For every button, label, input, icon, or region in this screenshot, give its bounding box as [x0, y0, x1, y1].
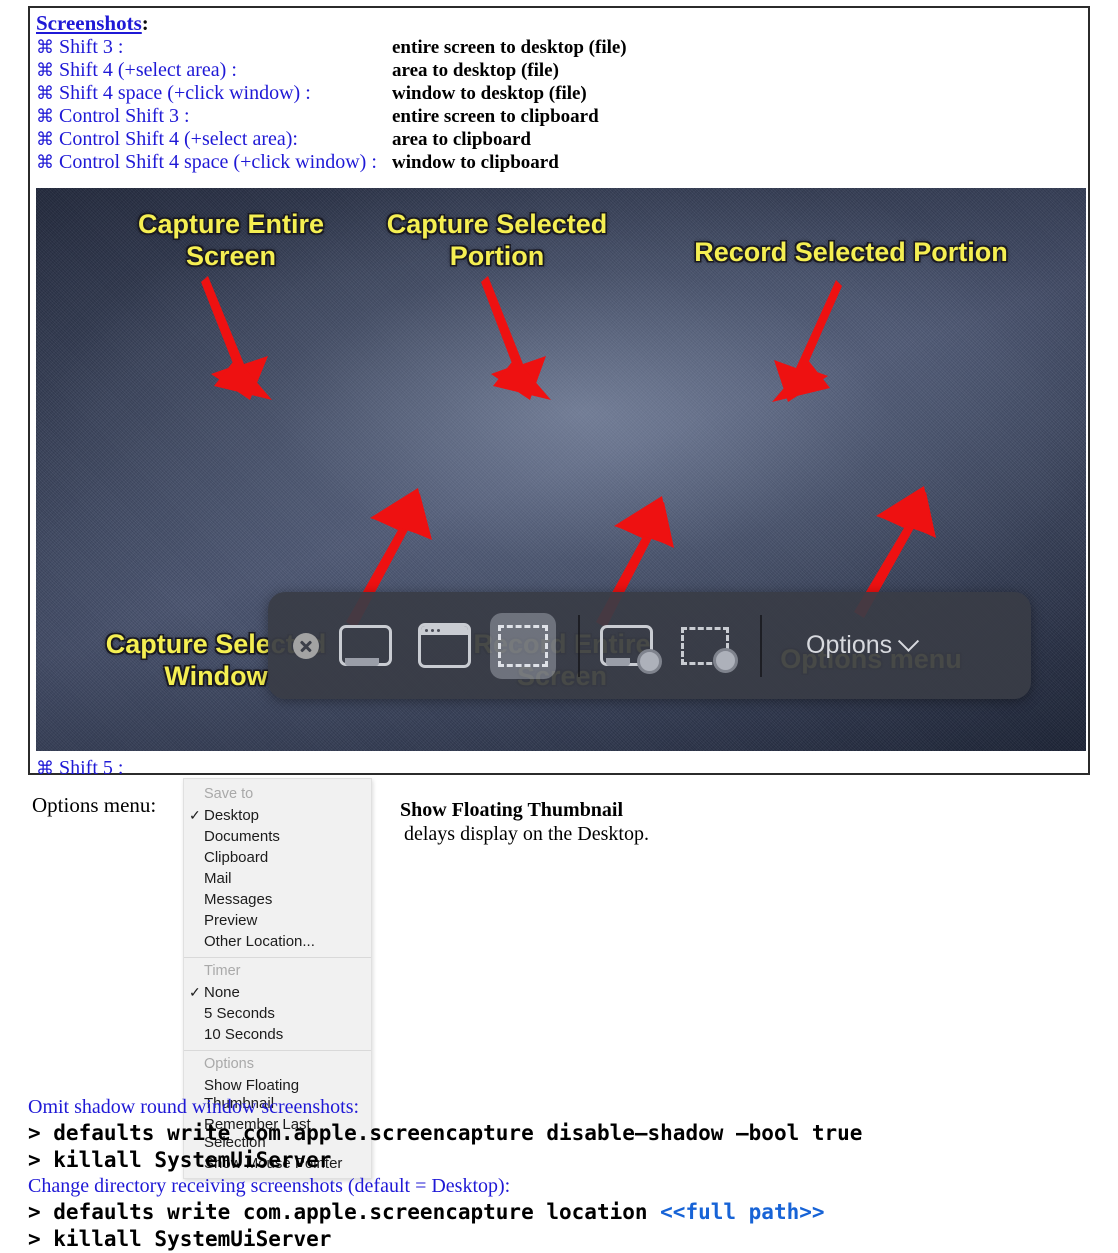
shortcut-row: ⌘ Control Shift 4 space (+click window) … — [36, 151, 1082, 174]
record-screen-icon — [600, 625, 653, 666]
shortcut-description: entire screen to clipboard — [392, 105, 599, 128]
macos-capture-toolbar[interactable]: Options — [268, 592, 1031, 699]
floating-thumbnail-note: Show Floating Thumbnail delays display o… — [400, 798, 649, 846]
menu-item-label: Mail — [204, 870, 232, 887]
record-entire-screen-button[interactable] — [593, 613, 659, 679]
menu-item-label: Preview — [204, 912, 257, 929]
screen-icon — [339, 625, 392, 666]
menu-item-label: None — [204, 984, 240, 1001]
shortcut-keys: ⌘ Control Shift 3 : — [36, 105, 190, 128]
capture-selected-portion-button[interactable] — [490, 613, 556, 679]
page-title-word: Screenshots — [36, 11, 142, 35]
menu-item[interactable]: Other Location... — [184, 931, 371, 952]
shortcut-row: ⌘ Control Shift 3 :entire screen to clip… — [36, 105, 1082, 128]
menu-section-header: Save to — [184, 783, 371, 805]
record-selection-icon — [681, 627, 729, 665]
screenshot-toolbar-photo: Capture Entire Screen Capture Selected P… — [36, 188, 1086, 751]
menu-item[interactable]: 5 Seconds — [184, 1003, 371, 1024]
window-icon — [418, 623, 471, 668]
floating-thumbnail-note-body: delays display on the Desktop. — [400, 822, 649, 846]
menu-item-label: 10 Seconds — [204, 1026, 283, 1043]
menu-item-label: 5 Seconds — [204, 1005, 275, 1022]
menu-item-label: Documents — [204, 828, 280, 845]
capture-selected-window-button[interactable] — [411, 613, 477, 679]
command-disable-shadow: > defaults write com.apple.screencapture… — [28, 1120, 1098, 1147]
shortcut-description: area to desktop (file) — [392, 59, 559, 82]
shortcut-row: ⌘ Shift 3 :entire screen to desktop (fil… — [36, 36, 1082, 59]
note-change-directory: Change directory receiving screenshots (… — [28, 1174, 1098, 1199]
command-location: > defaults write com.apple.screencapture… — [28, 1199, 1098, 1226]
menu-item[interactable]: ✓None — [184, 982, 371, 1003]
shortcut-row: ⌘ Shift 4 (+select area) :area to deskto… — [36, 59, 1082, 82]
command-location-prefix: > defaults write com.apple.screencapture… — [28, 1200, 660, 1224]
menu-section-header: Timer — [184, 960, 371, 982]
shortcut-keys: ⌘ Shift 4 (+select area) : — [36, 59, 237, 82]
menu-item[interactable]: Documents — [184, 826, 371, 847]
shortcut-description: entire screen to desktop (file) — [392, 36, 627, 59]
shortcut-keys: ⌘ Shift 3 : — [36, 36, 123, 59]
chevron-down-icon — [898, 631, 919, 652]
dashed-selection-icon — [498, 625, 548, 667]
shortcut-description: area to clipboard — [392, 128, 531, 151]
shortcuts-panel: Screenshots: ⌘ Shift 3 :entire screen to… — [28, 6, 1090, 775]
toolbar-divider-2 — [760, 615, 762, 677]
menu-divider — [184, 957, 371, 958]
menu-divider — [184, 1050, 371, 1051]
command-killall-1: > killall SystemUiServer — [28, 1147, 1098, 1174]
menu-section-header: Options — [184, 1053, 371, 1075]
shortcut-row: ⌘ Control Shift 4 (+select area):area to… — [36, 128, 1082, 151]
terminal-commands-section: Omit shadow round window screenshots: > … — [28, 1095, 1098, 1253]
menu-item-label: Messages — [204, 891, 272, 908]
shortcut-description: window to clipboard — [392, 151, 559, 174]
menu-item[interactable]: Messages — [184, 889, 371, 910]
shortcut-keys: ⌘ Control Shift 4 space (+click window) … — [36, 151, 377, 174]
page-title-colon: : — [142, 11, 149, 35]
options-menu-caption: Options menu: — [32, 793, 156, 818]
menu-item[interactable]: ✓Desktop — [184, 805, 371, 826]
check-icon: ✓ — [189, 806, 201, 824]
shortcut-description: window to desktop (file) — [392, 82, 587, 105]
close-icon[interactable] — [293, 633, 319, 659]
menu-item-label: Desktop — [204, 807, 259, 824]
menu-item[interactable]: Mail — [184, 868, 371, 889]
shortcut-row: ⌘ Shift 4 space (+click window) :window … — [36, 82, 1082, 105]
floating-thumbnail-note-title: Show Floating Thumbnail — [400, 798, 649, 822]
page-title: Screenshots: — [36, 11, 149, 36]
capture-entire-screen-button[interactable] — [332, 613, 398, 679]
note-omit-shadow: Omit shadow round window screenshots: — [28, 1095, 1098, 1120]
toolbar-divider-1 — [578, 615, 580, 677]
menu-item[interactable]: 10 Seconds — [184, 1024, 371, 1045]
menu-item[interactable]: Preview — [184, 910, 371, 931]
shortcut-list: ⌘ Shift 3 :entire screen to desktop (fil… — [36, 36, 1082, 174]
shift5-caption: ⌘ Shift 5 : — [36, 756, 123, 780]
shortcut-keys: ⌘ Control Shift 4 (+select area): — [36, 128, 298, 151]
options-menu-label: Options — [806, 631, 892, 660]
menu-item[interactable]: Clipboard — [184, 847, 371, 868]
command-location-arg: <<full path>> — [660, 1200, 824, 1224]
command-killall-2: > killall SystemUiServer — [28, 1226, 1098, 1253]
check-icon: ✓ — [189, 983, 201, 1001]
record-selected-portion-button[interactable] — [672, 613, 738, 679]
shortcut-keys: ⌘ Shift 4 space (+click window) : — [36, 82, 311, 105]
menu-item-label: Clipboard — [204, 849, 268, 866]
options-menu-button[interactable]: Options — [806, 631, 916, 660]
menu-item-label: Other Location... — [204, 933, 315, 950]
